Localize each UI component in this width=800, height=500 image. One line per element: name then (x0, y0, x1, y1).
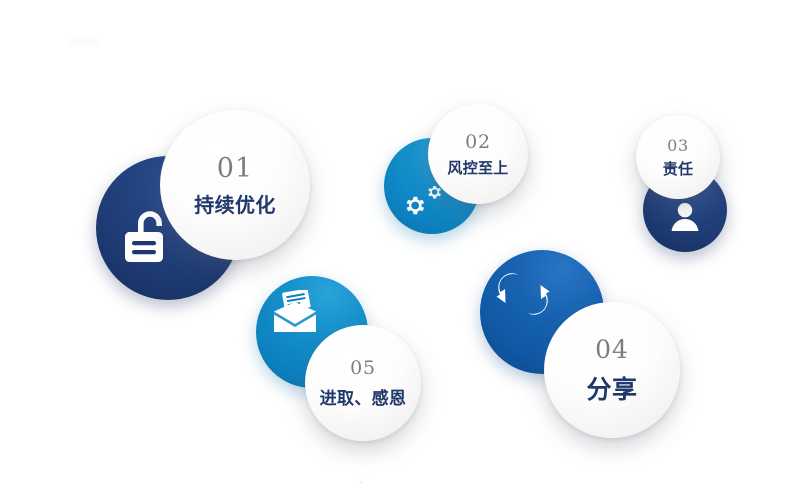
label-circle-02[interactable]: 02 风控至上 (428, 104, 528, 204)
item-number-04: 04 (595, 337, 629, 362)
background-artifact (70, 38, 98, 46)
item-number-05: 05 (350, 359, 376, 378)
background-speck (359, 481, 362, 484)
lock-open-icon (120, 208, 174, 266)
item-title-04: 分享 (586, 378, 637, 403)
item-title-01: 持续优化 (194, 196, 276, 216)
item-title-05: 进取、感恩 (320, 390, 407, 407)
label-circle-01[interactable]: 01 持续优化 (160, 110, 310, 260)
slide-canvas: 01 持续优化 02 风控至上 03 责任 (0, 0, 800, 500)
label-circle-05[interactable]: 05 进取、感恩 (305, 325, 421, 441)
label-circle-04[interactable]: 04 分享 (544, 302, 680, 438)
label-circle-03[interactable]: 03 责任 (636, 115, 720, 199)
item-number-03: 03 (667, 138, 689, 154)
item-title-03: 责任 (663, 162, 694, 177)
item-number-01: 01 (217, 155, 254, 182)
item-title-02: 风控至上 (447, 161, 508, 176)
person-icon (671, 202, 699, 232)
gears-icon (406, 186, 446, 220)
mail-open-icon (270, 290, 320, 334)
item-number-02: 02 (465, 133, 491, 152)
sync-arrows-icon (496, 272, 550, 316)
